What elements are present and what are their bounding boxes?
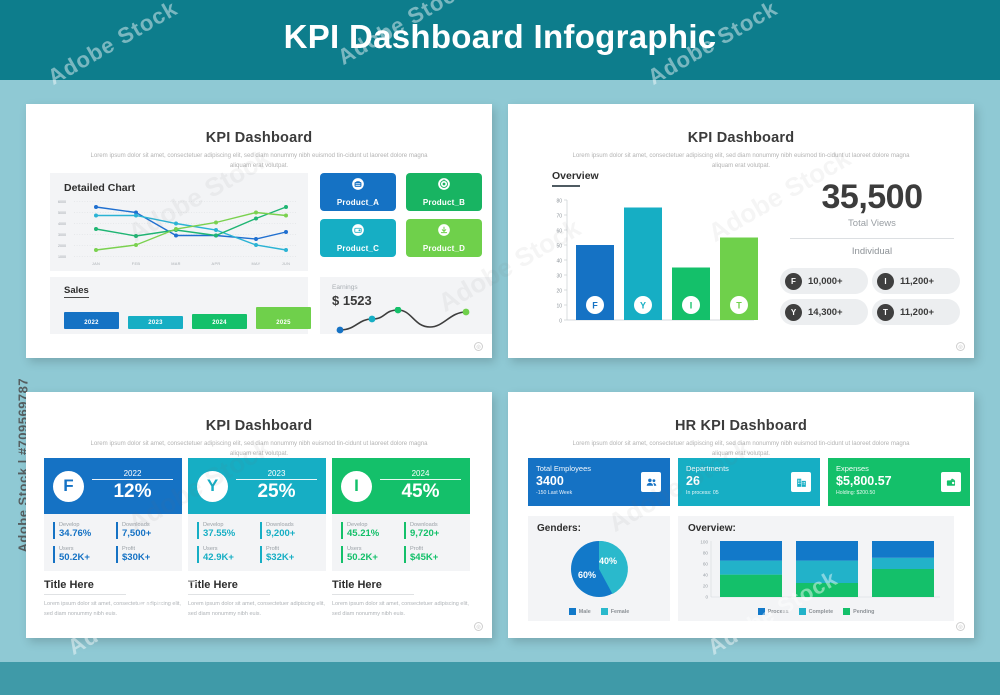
- stat-profit-value: $32K+: [266, 552, 317, 563]
- briefcase-icon: [351, 177, 365, 196]
- stat-develop: Develop 34.76%: [53, 522, 110, 539]
- svg-text:10: 10: [556, 304, 562, 310]
- svg-text:80: 80: [556, 199, 562, 205]
- stat-downloads-value: 9,200+: [266, 528, 317, 539]
- svg-text:60: 60: [556, 229, 562, 235]
- legend-process-label: Process: [768, 609, 789, 615]
- individual-pill-t[interactable]: T 11,200+: [872, 299, 960, 325]
- divider: [790, 238, 954, 239]
- kpi-card-2023-year: 2023: [236, 469, 317, 480]
- svg-text:20: 20: [556, 289, 562, 295]
- product-button-b[interactable]: Product_B: [406, 173, 482, 211]
- panel-kpi-dashboard-1: KPI Dashboard Lorem ipsum dolor sit amet…: [26, 104, 492, 358]
- overview-bar-chart: 80 70 60 50 40 30 20 10 0: [542, 192, 760, 344]
- svg-text:60: 60: [703, 562, 709, 567]
- svg-text:5000: 5000: [58, 211, 66, 215]
- stat-develop-value: 34.76%: [59, 528, 110, 539]
- sales-bar-2024-label: 2024: [192, 320, 247, 326]
- svg-text:30: 30: [556, 274, 562, 280]
- individual-pill-y[interactable]: Y 14,300+: [780, 299, 868, 325]
- building-icon: [791, 472, 811, 492]
- kpi-card-2023-header: Y 2023 25%: [188, 458, 326, 514]
- individual-value-y: 14,300+: [808, 307, 843, 318]
- kpi-card-2023: Y 2023 25% Develop 37.55% Downloads 9,20…: [188, 458, 326, 619]
- overview-stacked-card: Overview: 100 80 60 40 20 0: [678, 516, 954, 621]
- sales-bar-2025-label: 2025: [256, 320, 311, 326]
- svg-text:JUN: JUN: [282, 261, 290, 266]
- kpi-card-2022-header: F 2022 12%: [44, 458, 182, 514]
- sales-bar-2023: 2023: [128, 316, 183, 329]
- kpi-badge-f-letter: F: [63, 476, 73, 496]
- product-button-a-label: Product_A: [337, 198, 379, 207]
- svg-text:FEB: FEB: [132, 261, 141, 266]
- stat-downloads: Downloads 9,720+: [404, 522, 461, 539]
- svg-text:6000: 6000: [58, 200, 66, 204]
- panel4-subtitle: Lorem ipsum dolor sit amet, consectetuer…: [571, 439, 911, 459]
- individual-value-t: 11,200+: [900, 307, 934, 318]
- genders-pie-chart: 40% 60%: [528, 536, 670, 614]
- svg-text:T: T: [736, 301, 742, 311]
- svg-text:4000: 4000: [58, 222, 66, 226]
- overview-stacked-legend: Process Complete Pending: [678, 608, 954, 615]
- kpi-card-2024-percent: 45%: [380, 481, 461, 503]
- svg-text:F: F: [592, 301, 598, 311]
- svg-text:40: 40: [703, 573, 709, 578]
- stat-profit: Profit $30K+: [116, 546, 173, 563]
- panel2-subtitle: Lorem ipsum dolor sit amet, consectetuer…: [571, 151, 911, 171]
- kpi-card-2022: F 2022 12% Develop 34.76% Downloads 7,50…: [44, 458, 182, 619]
- kpi-badge-y: Y: [197, 471, 228, 502]
- legend-process: Process: [758, 608, 789, 615]
- panel4-title: HR KPI Dashboard: [508, 418, 974, 434]
- svg-text:2000: 2000: [58, 244, 66, 248]
- kpi-badge-y-letter: Y: [207, 476, 218, 496]
- earnings-sparkline: [332, 307, 482, 335]
- sales-bar-2024: 2024: [192, 314, 247, 329]
- stat-downloads: Downloads 9,200+: [260, 522, 317, 539]
- kpi-card-2024: I 2024 45% Develop 45.21% Downloads 9,72…: [332, 458, 470, 619]
- stat-users: Users 50.2K+: [341, 546, 398, 563]
- genders-legend: Male Female: [528, 608, 670, 615]
- hr-card-expenses: Expenses $5,800.57 Holding: $200.50: [828, 458, 970, 506]
- corner-mark-3: ◎: [474, 622, 483, 631]
- kpi-card-2022-title: Title Here: [44, 579, 126, 595]
- individual-badge-t: T: [877, 304, 894, 321]
- overview-stacked-bar-chart: 100 80 60 40 20 0: [678, 536, 954, 606]
- kpi-card-2022-stats: Develop 34.76% Downloads 7,500+ Users 50…: [44, 514, 182, 571]
- detailed-chart-card: Detailed Chart 6000 5000 4000 3000 2000 …: [50, 173, 308, 271]
- stat-profit: Profit $45K+: [404, 546, 461, 563]
- svg-text:1000: 1000: [58, 255, 66, 259]
- product-button-d[interactable]: Product_D: [406, 219, 482, 257]
- svg-text:0: 0: [559, 319, 562, 325]
- corner-mark-1: ◎: [474, 342, 483, 351]
- kpi-badge-i: I: [341, 471, 372, 502]
- panel1-title: KPI Dashboard: [26, 130, 492, 146]
- legend-pending-label: Pending: [853, 609, 874, 615]
- svg-text:3000: 3000: [58, 233, 66, 237]
- sales-bar-2025: 2025: [256, 307, 311, 329]
- kpi-card-2024-year: 2024: [380, 469, 461, 480]
- total-views-caption: Total Views: [784, 218, 960, 229]
- target-icon: [437, 177, 451, 196]
- sales-bar-2022-label: 2022: [64, 320, 119, 326]
- stat-profit-value: $30K+: [122, 552, 173, 563]
- stat-develop: Develop 45.21%: [341, 522, 398, 539]
- hr-summary-cards: Total Employees 3400 -150 Last Week Depa…: [528, 458, 970, 506]
- stat-users: Users 42.9K+: [197, 546, 254, 563]
- svg-text:MAR: MAR: [171, 261, 181, 266]
- individual-pill-f[interactable]: F 10,000+: [780, 268, 868, 294]
- stat-develop-value: 45.21%: [347, 528, 398, 539]
- kpi-card-2022-desc: Lorem ipsum dolor sit amet, consectetuer…: [44, 600, 182, 619]
- hr-card-departments: Departments 26 In process: 05: [678, 458, 820, 506]
- product-button-a[interactable]: Product_A: [320, 173, 396, 211]
- stat-users-value: 50.2K+: [59, 552, 110, 563]
- earnings-label: Earnings: [332, 284, 358, 291]
- legend-male: Male: [569, 608, 591, 615]
- svg-text:100: 100: [700, 540, 708, 545]
- panel1-subtitle: Lorem ipsum dolor sit amet, consectetuer…: [89, 151, 429, 171]
- stat-profit-value: $45K+: [410, 552, 461, 563]
- stat-develop-value: 37.55%: [203, 528, 254, 539]
- stat-users-value: 42.9K+: [203, 552, 254, 563]
- panel3-subtitle: Lorem ipsum dolor sit amet, consectetuer…: [89, 439, 429, 459]
- product-button-d-label: Product_D: [423, 244, 465, 253]
- earnings-value: $ 1523: [332, 293, 372, 308]
- svg-text:80: 80: [703, 551, 709, 556]
- product-button-c[interactable]: Product_C: [320, 219, 396, 257]
- panel-hr-kpi-dashboard: HR KPI Dashboard Lorem ipsum dolor sit a…: [508, 392, 974, 638]
- individual-title: Individual: [784, 246, 960, 257]
- hr-card-total-employees: Total Employees 3400 -150 Last Week: [528, 458, 670, 506]
- genders-card: Genders: 40% 60% Male Female: [528, 516, 670, 621]
- individual-badge-i: I: [877, 273, 894, 290]
- stat-downloads-value: 9,720+: [410, 528, 461, 539]
- kpi-card-2023-title: Title Here: [188, 579, 270, 595]
- wallet-money-icon: [941, 472, 961, 492]
- kpi-card-2024-title: Title Here: [332, 579, 414, 595]
- kpi-card-2022-percent: 12%: [92, 481, 173, 503]
- svg-text:50: 50: [556, 244, 562, 250]
- kpi-card-2024-desc: Lorem ipsum dolor sit amet, consectetuer…: [332, 600, 470, 619]
- kpi-card-2024-stats: Develop 45.21% Downloads 9,720+ Users 50…: [332, 514, 470, 571]
- people-icon: [641, 472, 661, 492]
- kpi-card-2024-header: I 2024 45%: [332, 458, 470, 514]
- sales-card: Sales 2022 2023 2024 2025: [50, 277, 308, 334]
- svg-text:MAY: MAY: [251, 261, 260, 266]
- stat-users-value: 50.2K+: [347, 552, 398, 563]
- legend-complete: Complete: [799, 608, 834, 615]
- overview-underline: [552, 185, 580, 187]
- panel3-title: KPI Dashboard: [26, 418, 492, 434]
- corner-mark-2: ◎: [956, 342, 965, 351]
- total-views-value: 35,500: [784, 178, 960, 217]
- svg-text:JAN: JAN: [92, 261, 100, 266]
- svg-text:0: 0: [705, 595, 708, 600]
- stat-users: Users 50.2K+: [53, 546, 110, 563]
- svg-text:70: 70: [556, 214, 562, 220]
- kpi-badge-i-letter: I: [354, 476, 359, 496]
- legend-complete-label: Complete: [809, 609, 834, 615]
- earnings-card: Earnings $ 1523: [320, 277, 492, 334]
- individual-badge-y: Y: [785, 304, 802, 321]
- kpi-card-2022-year: 2022: [92, 469, 173, 480]
- individual-badge-f: F: [785, 273, 802, 290]
- overview-stacked-title: Overview:: [688, 523, 736, 534]
- legend-pending: Pending: [843, 608, 874, 615]
- svg-text:Y: Y: [640, 301, 646, 311]
- stat-downloads: Downloads 7,500+: [116, 522, 173, 539]
- footer-band: [0, 662, 1000, 695]
- svg-text:40: 40: [556, 259, 562, 265]
- sales-bar-2023-label: 2023: [128, 320, 183, 326]
- kpi-badge-f: F: [53, 471, 84, 502]
- overview-title: Overview: [552, 170, 599, 182]
- kpi-card-2023-desc: Lorem ipsum dolor sit amet, consectetuer…: [188, 600, 326, 619]
- panel-kpi-dashboard-2: KPI Dashboard Lorem ipsum dolor sit amet…: [508, 104, 974, 358]
- genders-title: Genders:: [537, 523, 581, 534]
- stat-profit: Profit $32K+: [260, 546, 317, 563]
- svg-text:20: 20: [703, 584, 709, 589]
- individual-value-i: 11,200+: [900, 276, 934, 287]
- sales-bar-chart: 2022 2023 2024 2025: [64, 303, 311, 329]
- infographic-page: KPI Dashboard Infographic Adobe Stock | …: [0, 0, 1000, 695]
- stat-downloads-value: 7,500+: [122, 528, 173, 539]
- detailed-chart-title: Detailed Chart: [64, 182, 135, 194]
- wallet-icon: [351, 223, 365, 242]
- panel-kpi-dashboard-3: KPI Dashboard Lorem ipsum dolor sit amet…: [26, 392, 492, 638]
- sales-bar-2022: 2022: [64, 312, 119, 329]
- kpi-card-2023-percent: 25%: [236, 481, 317, 503]
- individual-stats-grid: F 10,000+ I 11,200+ Y 14,300+ T 11,200+: [780, 268, 960, 325]
- product-button-grid: Product_A Product_B: [320, 173, 482, 257]
- detailed-line-chart: 6000 5000 4000 3000 2000 1000: [58, 199, 300, 267]
- individual-pill-i[interactable]: I 11,200+: [872, 268, 960, 294]
- legend-female-label: Female: [611, 609, 630, 615]
- panel2-title: KPI Dashboard: [508, 130, 974, 146]
- product-button-c-label: Product_C: [337, 244, 379, 253]
- svg-text:I: I: [690, 301, 693, 311]
- page-title: KPI Dashboard Infographic: [0, 18, 1000, 56]
- sales-title: Sales: [64, 285, 89, 298]
- svg-text:APR: APR: [212, 261, 221, 266]
- svg-text:60%: 60%: [578, 570, 596, 580]
- legend-male-label: Male: [579, 609, 591, 615]
- svg-text:40%: 40%: [599, 556, 617, 566]
- product-button-b-label: Product_B: [423, 198, 465, 207]
- stat-develop: Develop 37.55%: [197, 522, 254, 539]
- individual-value-f: 10,000+: [808, 276, 843, 287]
- download-icon: [437, 223, 451, 242]
- corner-mark-4: ◎: [956, 622, 965, 631]
- kpi-card-2023-stats: Develop 37.55% Downloads 9,200+ Users 42…: [188, 514, 326, 571]
- legend-female: Female: [601, 608, 630, 615]
